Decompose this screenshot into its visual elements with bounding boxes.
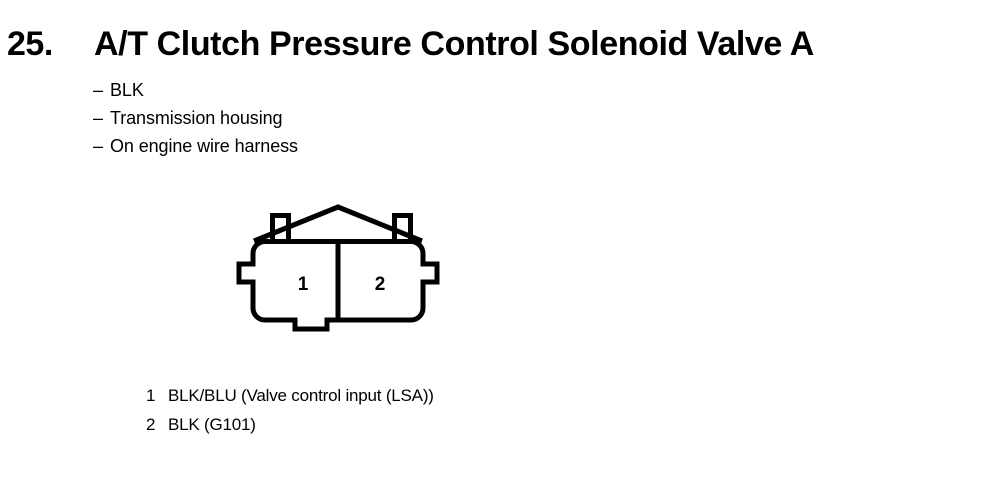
connector-diagram-page: 25. A/T Clutch Pressure Control Solenoid… <box>0 0 992 492</box>
spec-item-label: On engine wire harness <box>110 132 298 160</box>
item-number: 25. <box>7 25 53 63</box>
legend-row: 2 BLK (G101) <box>146 410 766 439</box>
dash-icon: – <box>93 104 110 132</box>
legend-terminal-description: BLK (G101) <box>168 410 256 439</box>
connector-outline <box>239 207 437 329</box>
legend-terminal-number: 2 <box>146 410 168 439</box>
top-tab-right-icon <box>395 216 411 243</box>
legend-terminal-number: 1 <box>146 381 168 410</box>
spec-item-wire-color: – BLK <box>93 76 513 104</box>
spec-item-label: BLK <box>110 76 144 104</box>
dash-icon: – <box>93 76 110 104</box>
connector-illustration: 1 2 <box>232 196 462 341</box>
spec-item-harness: – On engine wire harness <box>93 132 513 160</box>
terminal-number-1: 1 <box>298 274 309 295</box>
page-title: A/T Clutch Pressure Control Solenoid Val… <box>94 25 814 63</box>
dash-icon: – <box>93 132 110 160</box>
terminal-number-2: 2 <box>375 274 386 295</box>
legend-row: 1 BLK/BLU (Valve control input (LSA)) <box>146 381 766 410</box>
spec-item-label: Transmission housing <box>110 104 282 132</box>
pin-legend: 1 BLK/BLU (Valve control input (LSA)) 2 … <box>146 381 766 439</box>
spec-list: – BLK – Transmission housing – On engine… <box>93 76 513 160</box>
spec-item-location: – Transmission housing <box>93 104 513 132</box>
legend-terminal-description: BLK/BLU (Valve control input (LSA)) <box>168 381 434 410</box>
